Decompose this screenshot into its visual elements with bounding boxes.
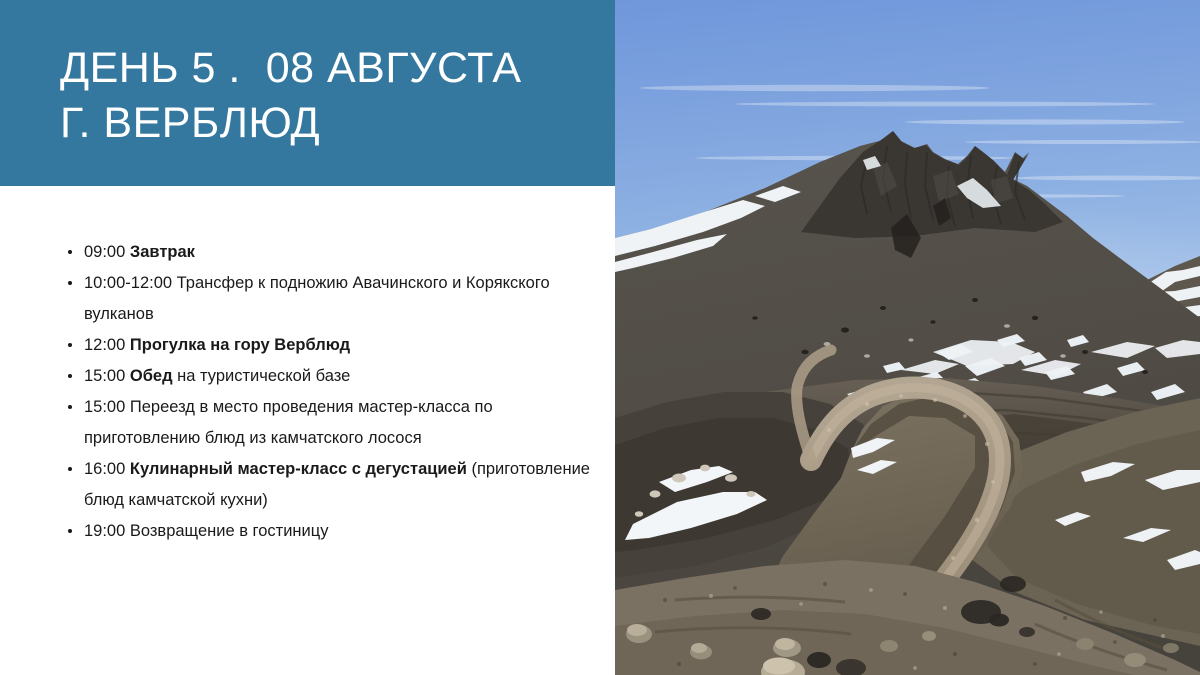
agenda-list: 09:00 Завтрак10:00-12:00 Трансфер к подн… [60,237,605,547]
left-content-column: ДЕНЬ 5 . 08 АВГУСТА Г. ВЕРБЛЮД 09:00 Зав… [0,0,615,675]
agenda-text: 15:00 Переезд в место проведения мастер-… [84,398,493,447]
agenda-item: 10:00-12:00 Трансфер к подножию Авачинск… [60,268,605,330]
mountain-photo-illustration [615,0,1200,675]
bullet-icon [68,529,72,533]
agenda-text: 09:00 [84,243,130,261]
agenda-text-emphasis: Кулинарный мастер-класс с дегустацией [130,460,467,478]
agenda-item: 15:00 Переезд в место проведения мастер-… [60,392,605,454]
agenda-text: 10:00-12:00 Трансфер к подножию Авачинск… [84,274,550,323]
bullet-icon [68,250,72,254]
agenda-text: 16:00 [84,460,130,478]
agenda-text-emphasis: Завтрак [130,243,195,261]
agenda-text: 19:00 Возвращение в гостиницу [84,522,328,540]
mountain-photo [615,0,1200,675]
agenda-text: 12:00 [84,336,130,354]
agenda-item: 09:00 Завтрак [60,237,605,268]
agenda-item: 12:00 Прогулка на гору Верблюд [60,330,605,361]
bullet-icon [68,467,72,471]
title-line-1: ДЕНЬ 5 . 08 АВГУСТА [60,41,600,96]
bullet-icon [68,343,72,347]
agenda-text-emphasis: Прогулка на гору Верблюд [130,336,350,354]
agenda-item: 16:00 Кулинарный мастер-класс с дегустац… [60,454,605,516]
agenda-item: 15:00 Обед на туристической базе [60,361,605,392]
agenda-text-emphasis: Обед [130,367,173,385]
agenda-text: 15:00 [84,367,130,385]
page-title: ДЕНЬ 5 . 08 АВГУСТА Г. ВЕРБЛЮД [60,41,600,151]
bullet-icon [68,405,72,409]
agenda-item: 19:00 Возвращение в гостиницу [60,516,605,547]
title-line-2: Г. ВЕРБЛЮД [60,96,600,151]
bullet-icon [68,281,72,285]
slide: ДЕНЬ 5 . 08 АВГУСТА Г. ВЕРБЛЮД 09:00 Зав… [0,0,1200,675]
agenda-text: на туристической базе [173,367,351,385]
bullet-icon [68,374,72,378]
